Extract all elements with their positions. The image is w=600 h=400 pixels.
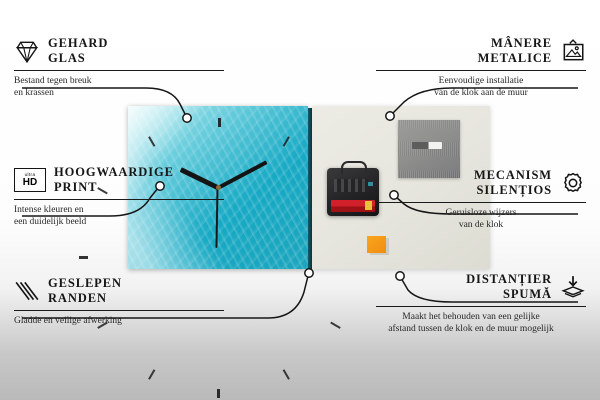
clock-tick (79, 257, 149, 259)
clock-tick (253, 318, 290, 380)
feature-description: Eenvoudige installatievan de klok aan de… (376, 75, 586, 100)
ultra-hd-icon: ultra HD (14, 168, 46, 192)
feature-divider (376, 202, 586, 204)
mechanism-loop (341, 161, 367, 174)
feature-description: Maakt het behouden van een gelijkeafstan… (356, 311, 586, 336)
feature-title: MÂNEREMETALICE (478, 36, 552, 67)
battery-terminal (365, 201, 372, 210)
feature-head: MÂNEREMETALICE (376, 36, 586, 67)
feature-description: Gladde en veilige afwerking (14, 315, 224, 327)
feature-divider (14, 310, 224, 312)
beveled-edges-icon (14, 278, 40, 304)
feature-head: GESLEPENRANDEN (14, 276, 224, 307)
feature-head: DISTANȚIERSPUMĂ (376, 272, 586, 303)
feature-gehard-glas: GEHARDGLAS Bestand tegen breuken krassen (14, 36, 224, 100)
feature-title: GESLEPENRANDEN (48, 276, 122, 307)
infographic-canvas: GEHARDGLAS Bestand tegen breuken krassen… (0, 0, 600, 400)
feature-divider (14, 70, 224, 72)
clock-tick (279, 292, 341, 329)
feature-manere-metalice: MÂNEREMETALICE Eenvoudige installatievan… (376, 36, 586, 100)
feature-title: GEHARDGLAS (48, 36, 108, 67)
feature-distantier-spuma: DISTANȚIERSPUMĂ Maakt het behouden van e… (376, 272, 586, 336)
feature-hoogwaardige-print: ultra HD HOOGWAARDIGEPRINT Intense kleur… (14, 165, 224, 229)
feature-divider (376, 306, 586, 308)
wall-mount-picture-icon (560, 38, 586, 64)
feature-description: Bestand tegen breuken krassen (14, 75, 224, 100)
feature-divider (376, 70, 586, 72)
mechanism-detail (334, 179, 368, 192)
spacer-layers-icon (560, 274, 586, 300)
hanger-slot (412, 142, 442, 149)
gear-icon (560, 170, 586, 196)
foam-spacer (367, 236, 386, 253)
feature-title: MECANISMSILENȚIOS (474, 168, 552, 199)
feature-geslepen-randen: GESLEPENRANDEN Gladde en veilige afwerki… (14, 276, 224, 327)
feature-divider (14, 199, 224, 201)
feature-head: GEHARDGLAS (14, 36, 224, 67)
feature-title: DISTANȚIERSPUMĂ (466, 272, 552, 303)
feature-description: Intense kleuren eneen duidelijk beeld (14, 204, 224, 229)
mechanism-indicator (368, 182, 373, 186)
feature-head: MECANISMSILENȚIOS (376, 168, 586, 199)
clock-tick (218, 328, 220, 398)
clock-mechanism (327, 168, 379, 216)
battery (331, 200, 375, 212)
diamond-icon (14, 38, 40, 64)
feature-title: HOOGWAARDIGEPRINT (54, 165, 174, 196)
feature-head: ultra HD HOOGWAARDIGEPRINT (14, 165, 224, 196)
ultra-hd-icon-bottom-label: HD (23, 178, 37, 188)
feature-description: Geruisloze wijzersvan de klok (376, 207, 586, 232)
feature-mecanism-silentios: MECANISMSILENȚIOS Geruisloze wijzersvan … (376, 168, 586, 232)
